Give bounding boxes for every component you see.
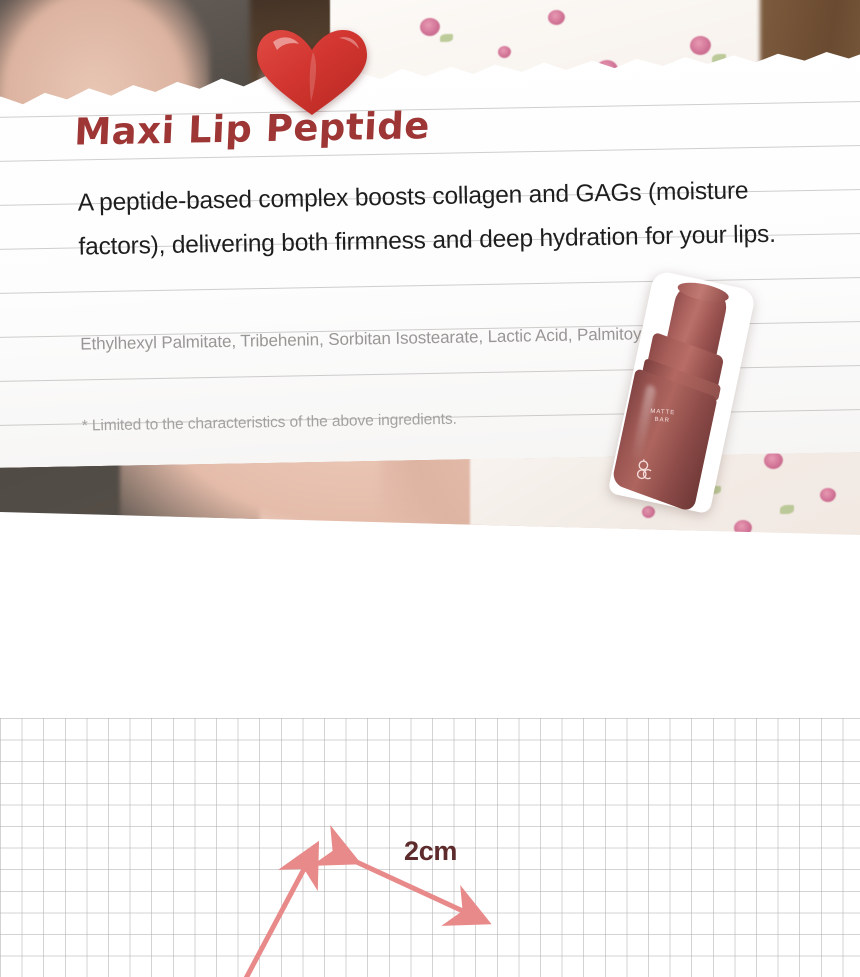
width-arrow (348, 858, 478, 918)
product-hero-section: Maxi Lip Peptide A peptide-based complex… (0, 0, 860, 712)
rose-motif (734, 520, 752, 536)
brand-logo-icon (634, 458, 661, 482)
rose-motif (820, 488, 836, 502)
product-description: A peptide-based complex boosts collagen … (77, 168, 798, 268)
heart-icon (253, 28, 371, 116)
measurement-label: 2cm (404, 836, 457, 867)
height-arrow (244, 854, 312, 977)
leaf-motif (780, 505, 794, 514)
